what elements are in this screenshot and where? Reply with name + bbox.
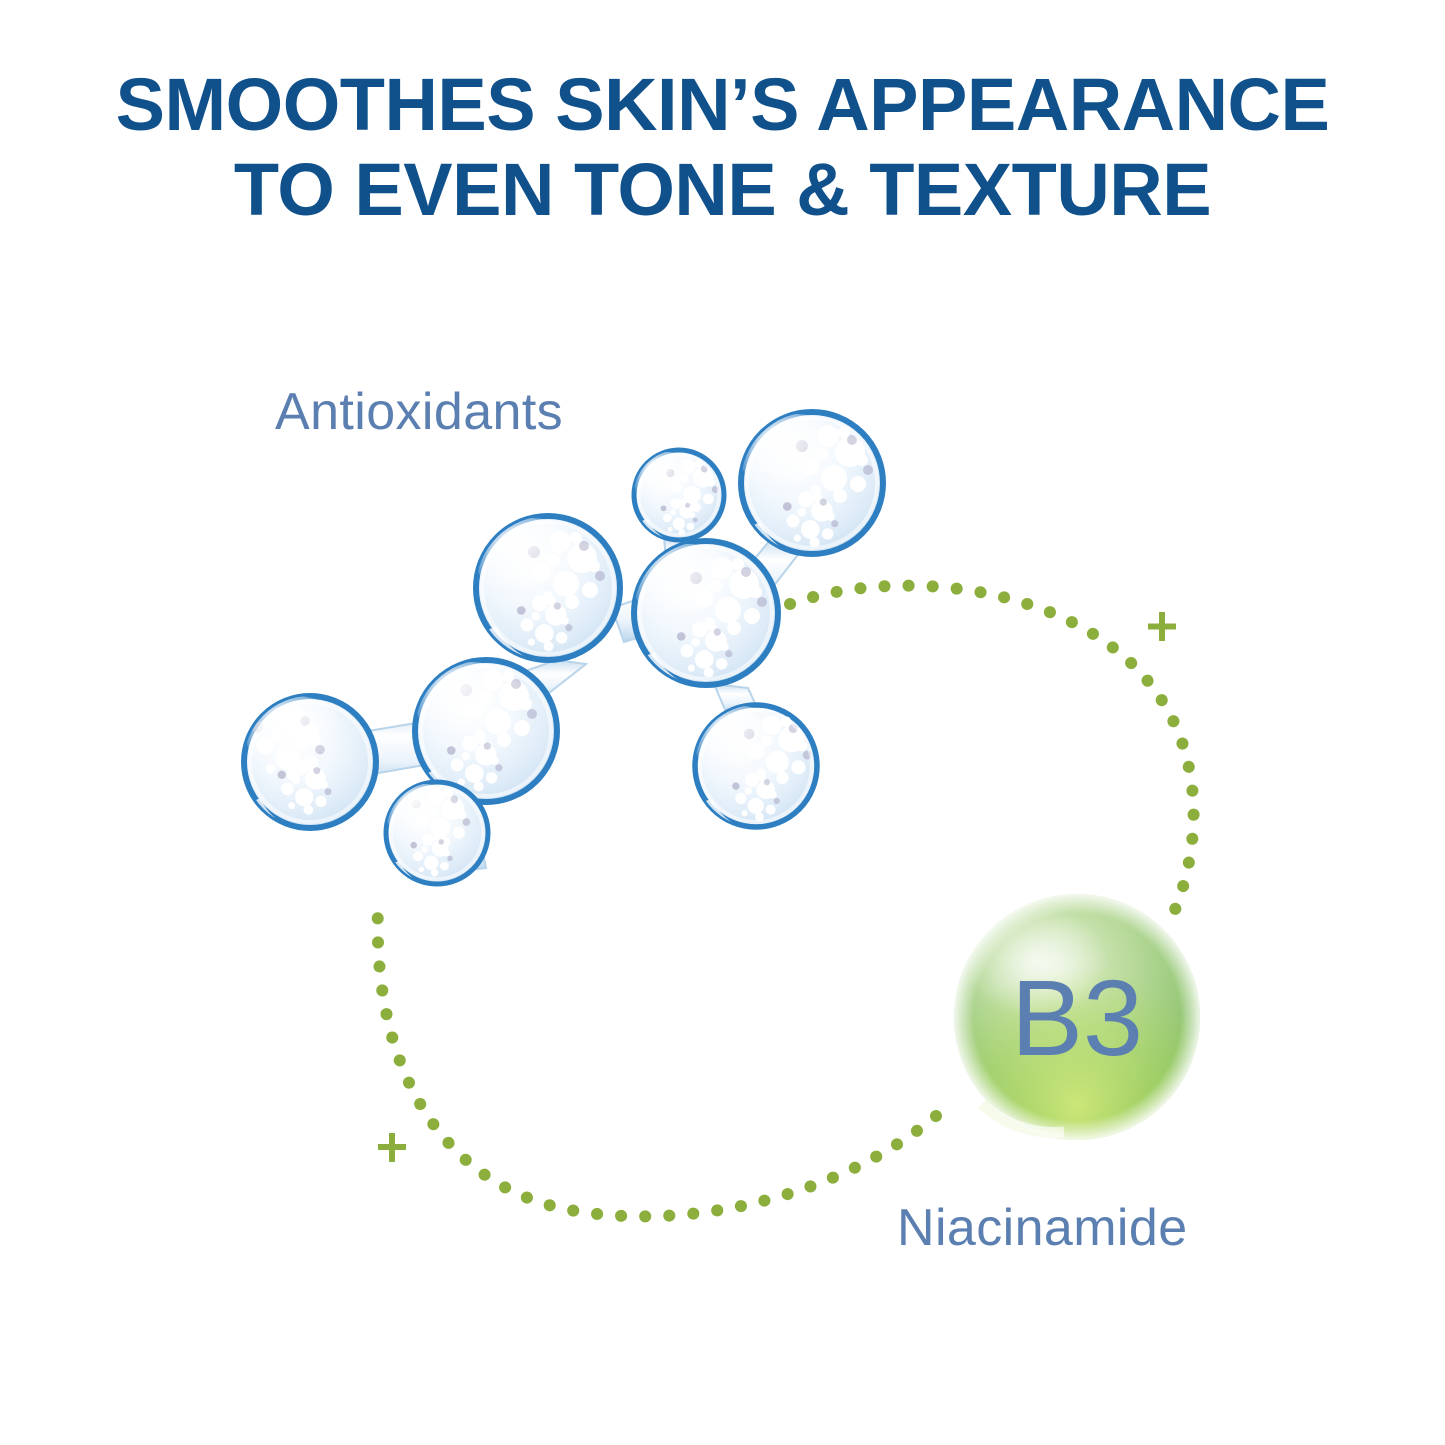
bubble-sphere	[632, 450, 724, 545]
bubble-sphere	[244, 696, 376, 836]
niacinamide-b3-sphere: B3	[954, 894, 1200, 1140]
plus-sign-top	[1148, 612, 1176, 641]
bubble-sphere	[476, 516, 620, 668]
bubble-sphere	[386, 782, 488, 891]
bubble-sphere	[694, 705, 817, 835]
plus-sign-bottom	[378, 1133, 406, 1162]
dotted-path-bottom	[378, 906, 936, 1216]
niacinamide-label: Niacinamide	[897, 1198, 1188, 1258]
dotted-path-top	[790, 586, 1194, 912]
product-benefit-infographic: SMOOTHES SKIN’S APPEARANCE TO EVEN TONE …	[0, 0, 1445, 1445]
antioxidants-label: Antioxidants	[275, 382, 563, 442]
ingredient-illustration: B3	[0, 0, 1445, 1445]
bubble-sphere	[740, 412, 883, 563]
bubble-sphere	[634, 541, 778, 694]
antioxidant-molecule-cluster	[244, 412, 883, 891]
b3-label: B3	[1011, 957, 1143, 1078]
